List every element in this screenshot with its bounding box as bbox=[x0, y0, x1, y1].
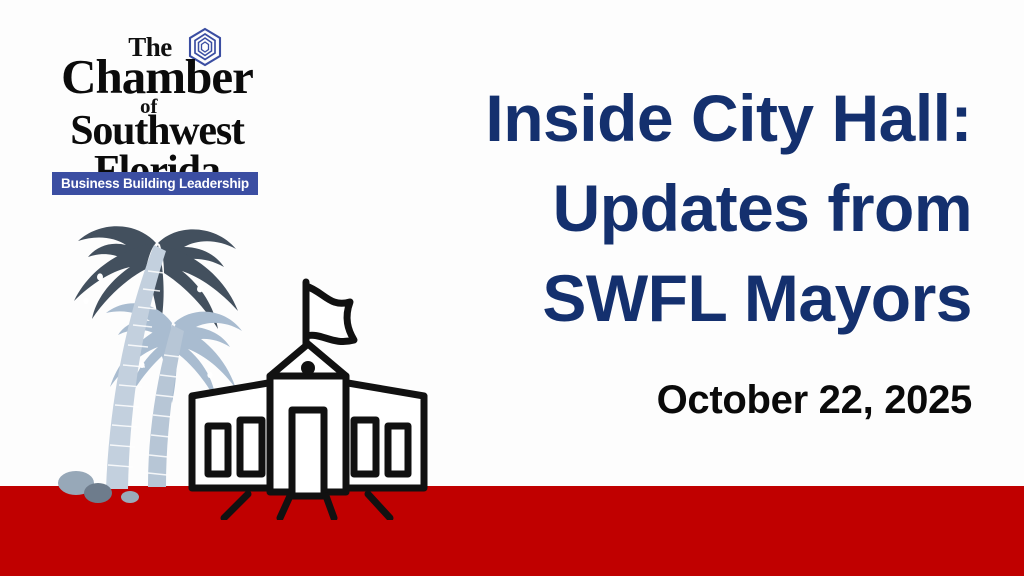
leg-right bbox=[368, 494, 390, 518]
pediment-medallion bbox=[301, 361, 315, 375]
leg-center-left bbox=[280, 496, 290, 518]
window-left-inner bbox=[240, 420, 262, 474]
chamber-logo: The Chamber of Southwest Florida Busines… bbox=[52, 26, 282, 201]
leg-center-right bbox=[326, 496, 334, 518]
logo-text-southwest: Southwest bbox=[52, 110, 262, 152]
title-line-2: Updates from bbox=[372, 164, 972, 254]
event-date: October 22, 2025 bbox=[657, 378, 972, 423]
window-right-outer bbox=[388, 426, 408, 474]
window-left-outer bbox=[208, 426, 228, 474]
window-right-inner bbox=[354, 420, 376, 474]
title-line-3: SWFL Mayors bbox=[372, 254, 972, 344]
flag bbox=[306, 286, 354, 342]
slide-title: Inside City Hall: Updates from SWFL Mayo… bbox=[372, 74, 972, 343]
title-line-1: Inside City Hall: bbox=[372, 74, 972, 164]
logo-tagline-bar: Business Building Leadership bbox=[52, 172, 258, 195]
leg-left bbox=[224, 494, 248, 518]
main-doorway bbox=[292, 410, 324, 496]
presentation-slide: The Chamber of Southwest Florida Busines… bbox=[0, 0, 1024, 576]
